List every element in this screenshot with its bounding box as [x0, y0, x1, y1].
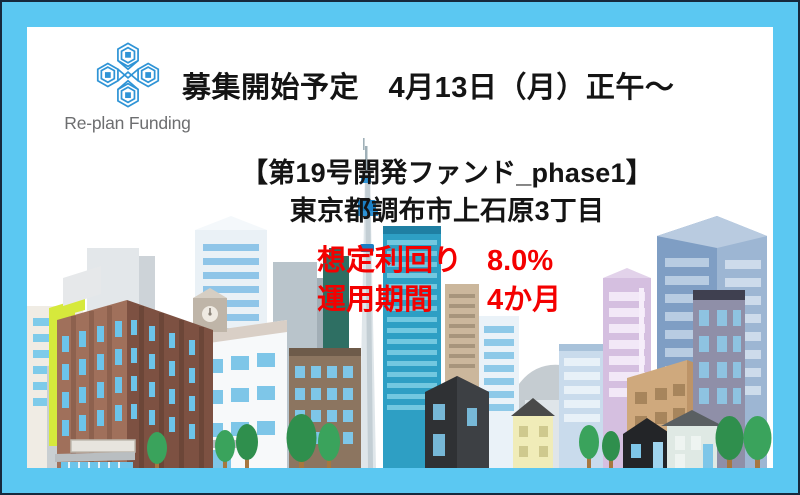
poster-content: Re-plan Funding 募集開始予定 4月13日（月）正午〜 【第19号… — [27, 27, 773, 468]
fund-address: 東京都調布市上石原3丁目 — [52, 189, 773, 228]
stat-value-yield: 8.0% — [487, 242, 597, 281]
announcement-headline: 募集開始予定 4月13日（月）正午〜 — [182, 64, 773, 106]
poster-frame: Re-plan Funding 募集開始予定 4月13日（月）正午〜 【第19号… — [0, 0, 800, 495]
stat-value-term: 4か月 — [487, 281, 597, 320]
stat-label-term: 運用期間 — [317, 281, 487, 320]
fund-stats: 想定利回り8.0% 運用期間4か月 — [27, 242, 773, 319]
stat-row-yield: 想定利回り8.0% — [137, 242, 773, 281]
stat-row-term: 運用期間4か月 — [137, 281, 773, 320]
brand-wordmark: Re-plan Funding — [45, 113, 210, 134]
fund-name: 【第19号開発ファンド_phase1】 — [52, 155, 773, 191]
stat-label-yield: 想定利回り — [317, 242, 487, 281]
replan-knot-logo-icon — [92, 39, 164, 111]
